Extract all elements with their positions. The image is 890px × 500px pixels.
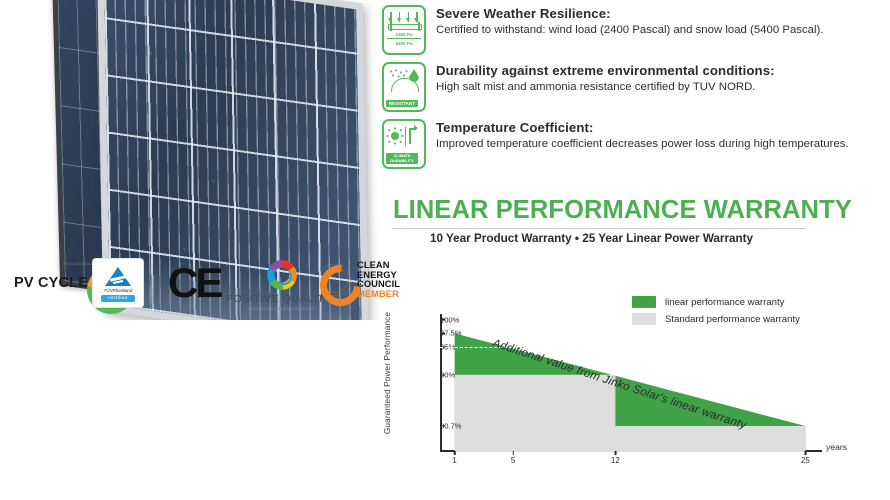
wind-load-value: 2400 Pa bbox=[387, 32, 421, 39]
feature-item: 2400 Pa 5400 Pa Severe Weather Resilienc… bbox=[382, 4, 882, 55]
warranty-subtitle: 10 Year Product Warranty • 25 Year Linea… bbox=[430, 232, 753, 245]
positive-quality-tagline: Continuous Quality Assurance bbox=[248, 306, 315, 311]
chart-x-axis-label: years bbox=[826, 442, 847, 452]
clean-energy-council-logo: CLEAN ENERGY COUNCIL MEMBER bbox=[317, 261, 400, 299]
cec-label: CLEAN ENERGY COUNCIL MEMBER bbox=[357, 261, 400, 299]
x-tick-label: 1 bbox=[452, 456, 456, 465]
cec-c-icon bbox=[317, 262, 353, 298]
ce-mark-logo: CE bbox=[168, 262, 220, 304]
legend-swatch-standard bbox=[632, 313, 656, 325]
datasheet-page: PV CYCLE RECYCLING SOLAR PANELS TÜVRhein… bbox=[0, 0, 890, 500]
tuv-rheinland-logo: TÜVRheinland certified bbox=[93, 259, 143, 307]
tuv-certified-badge: certified bbox=[101, 295, 135, 302]
x-tick-label: 12 bbox=[611, 456, 620, 465]
resistant-badge: RESISTANT bbox=[386, 100, 418, 107]
feature-body: Certified to withstand: wind load (2400 … bbox=[436, 23, 824, 37]
positive-quality-swirl-icon bbox=[267, 260, 297, 290]
tuv-brand-label: TÜVRheinland bbox=[104, 288, 133, 293]
legend-item: Standard performance warranty bbox=[632, 313, 800, 325]
wind-snow-load-icon: 2400 Pa 5400 Pa bbox=[382, 5, 426, 55]
warranty-title: LINEAR PERFORMANCE WARRANTY bbox=[393, 196, 852, 225]
legend-swatch-linear bbox=[632, 296, 656, 308]
chart-y-axis-label: Guaranteed Power Performance bbox=[382, 298, 392, 448]
legend-label-standard: Standard performance warranty bbox=[665, 314, 800, 325]
feature-list: 2400 Pa 5400 Pa Severe Weather Resilienc… bbox=[382, 4, 882, 175]
tuv-triangle-icon bbox=[105, 267, 131, 286]
snow-load-value: 5400 Pa bbox=[387, 41, 421, 46]
warranty-chart: Guaranteed Power Performance 100%97.5%95… bbox=[382, 296, 882, 476]
feature-body: High salt mist and ammonia resistance ce… bbox=[436, 80, 775, 94]
chart-legend: linear performance warranty Standard per… bbox=[632, 296, 800, 330]
feature-item: CLIMATE DURABILITY Temperature Coefficie… bbox=[382, 118, 882, 169]
feature-heading: Durability against extreme environmental… bbox=[436, 63, 775, 78]
certification-logos: PV CYCLE RECYCLING SOLAR PANELS TÜVRhein… bbox=[0, 258, 390, 314]
feature-heading: Temperature Coefficient: bbox=[436, 120, 849, 135]
climate-durability-icon: CLIMATE DURABILITY bbox=[382, 119, 426, 169]
pv-cycle-label: PV CYCLE bbox=[14, 275, 88, 291]
feature-item: RESISTANT Durability against extreme env… bbox=[382, 61, 882, 112]
x-tick-label: 5 bbox=[511, 456, 515, 465]
feature-heading: Severe Weather Resilience: bbox=[436, 6, 824, 21]
x-tick-label: 25 bbox=[801, 456, 810, 465]
climate-durability-badge: CLIMATE DURABILITY bbox=[386, 153, 418, 164]
legend-label-linear: linear performance warranty bbox=[665, 297, 784, 308]
legend-item: linear performance warranty bbox=[632, 296, 800, 308]
salt-mist-resistant-icon: RESISTANT bbox=[382, 62, 426, 112]
feature-body: Improved temperature coefficient decreas… bbox=[436, 137, 849, 151]
warranty-divider bbox=[392, 228, 806, 229]
